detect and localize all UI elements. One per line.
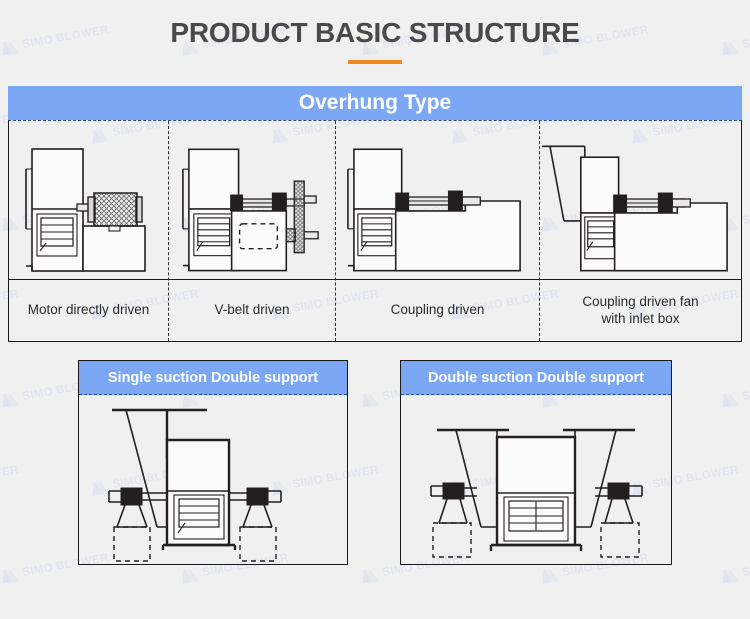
fan-with-direct-drive-motor-diagram [9,121,168,279]
page-title: PRODUCT BASIC STRUCTURE [0,17,750,49]
watermark: SIMO BLOWER [719,373,750,409]
overhung-cell-label: Coupling driven [336,280,539,341]
overhung-cell-label: V-belt driven [169,280,335,341]
title-underline-rule [348,60,402,64]
overhung-type-banner: Overhung Type [8,86,742,120]
overhung-type-banner-label: Overhung Type [299,91,451,115]
simo-blower-logo-icon [359,389,381,409]
simo-blower-logo-icon [719,565,741,585]
double-suction-banner: Double suction Double support [401,361,671,395]
simo-blower-logo-icon [719,389,741,409]
overhung-cell-coupling-driven: Coupling driven [335,121,539,341]
simo-blower-logo-icon [539,565,561,585]
simo-blower-logo-icon [0,565,20,585]
overhung-cell-label-line2: with inlet box [601,311,679,326]
single-suction-double-support-panel: Single suction Double support [78,360,348,565]
fan-with-inlet-box-coupling-drive-diagram [540,121,741,279]
single-suction-double-support-diagram [79,395,347,564]
product-structure-page: PRODUCT BASIC STRUCTURE Overhung Type [0,0,750,619]
single-suction-banner: Single suction Double support [79,361,347,395]
single-suction-banner-label: Single suction Double support [108,370,318,386]
simo-blower-logo-icon [359,565,381,585]
overhung-cell-label-line1: Coupling driven fan [582,294,698,309]
fan-with-v-belt-drive-diagram [169,121,335,279]
overhung-cell-v-belt-driven: V-belt driven [168,121,335,341]
watermark: SIMO BLOWER [0,461,20,497]
watermark: SIMO BLOWER [719,549,750,585]
watermark-text: SIMO BLOWER [742,375,750,402]
overhung-cell-label: Motor directly driven [9,280,168,341]
overhung-cell-motor-directly-driven: Motor directly driven [9,121,168,341]
overhung-cell-coupling-driven-with-inlet-box: Coupling driven fan with inlet box [539,121,741,341]
simo-blower-logo-icon [179,565,201,585]
double-suction-double-support-panel: Double suction Double support [400,360,672,565]
overhung-cell-label: Coupling driven fan with inlet box [540,280,741,341]
watermark-text: SIMO BLOWER [0,463,19,490]
overhung-type-panel: Motor directly driven [8,120,742,342]
simo-blower-logo-icon [0,389,20,409]
watermark-text: SIMO BLOWER [742,551,750,578]
double-suction-banner-label: Double suction Double support [428,370,644,386]
double-suction-double-support-diagram [401,395,671,564]
watermark-text: SIMO BLOWER [742,199,750,226]
fan-with-coupling-drive-diagram [336,121,539,279]
